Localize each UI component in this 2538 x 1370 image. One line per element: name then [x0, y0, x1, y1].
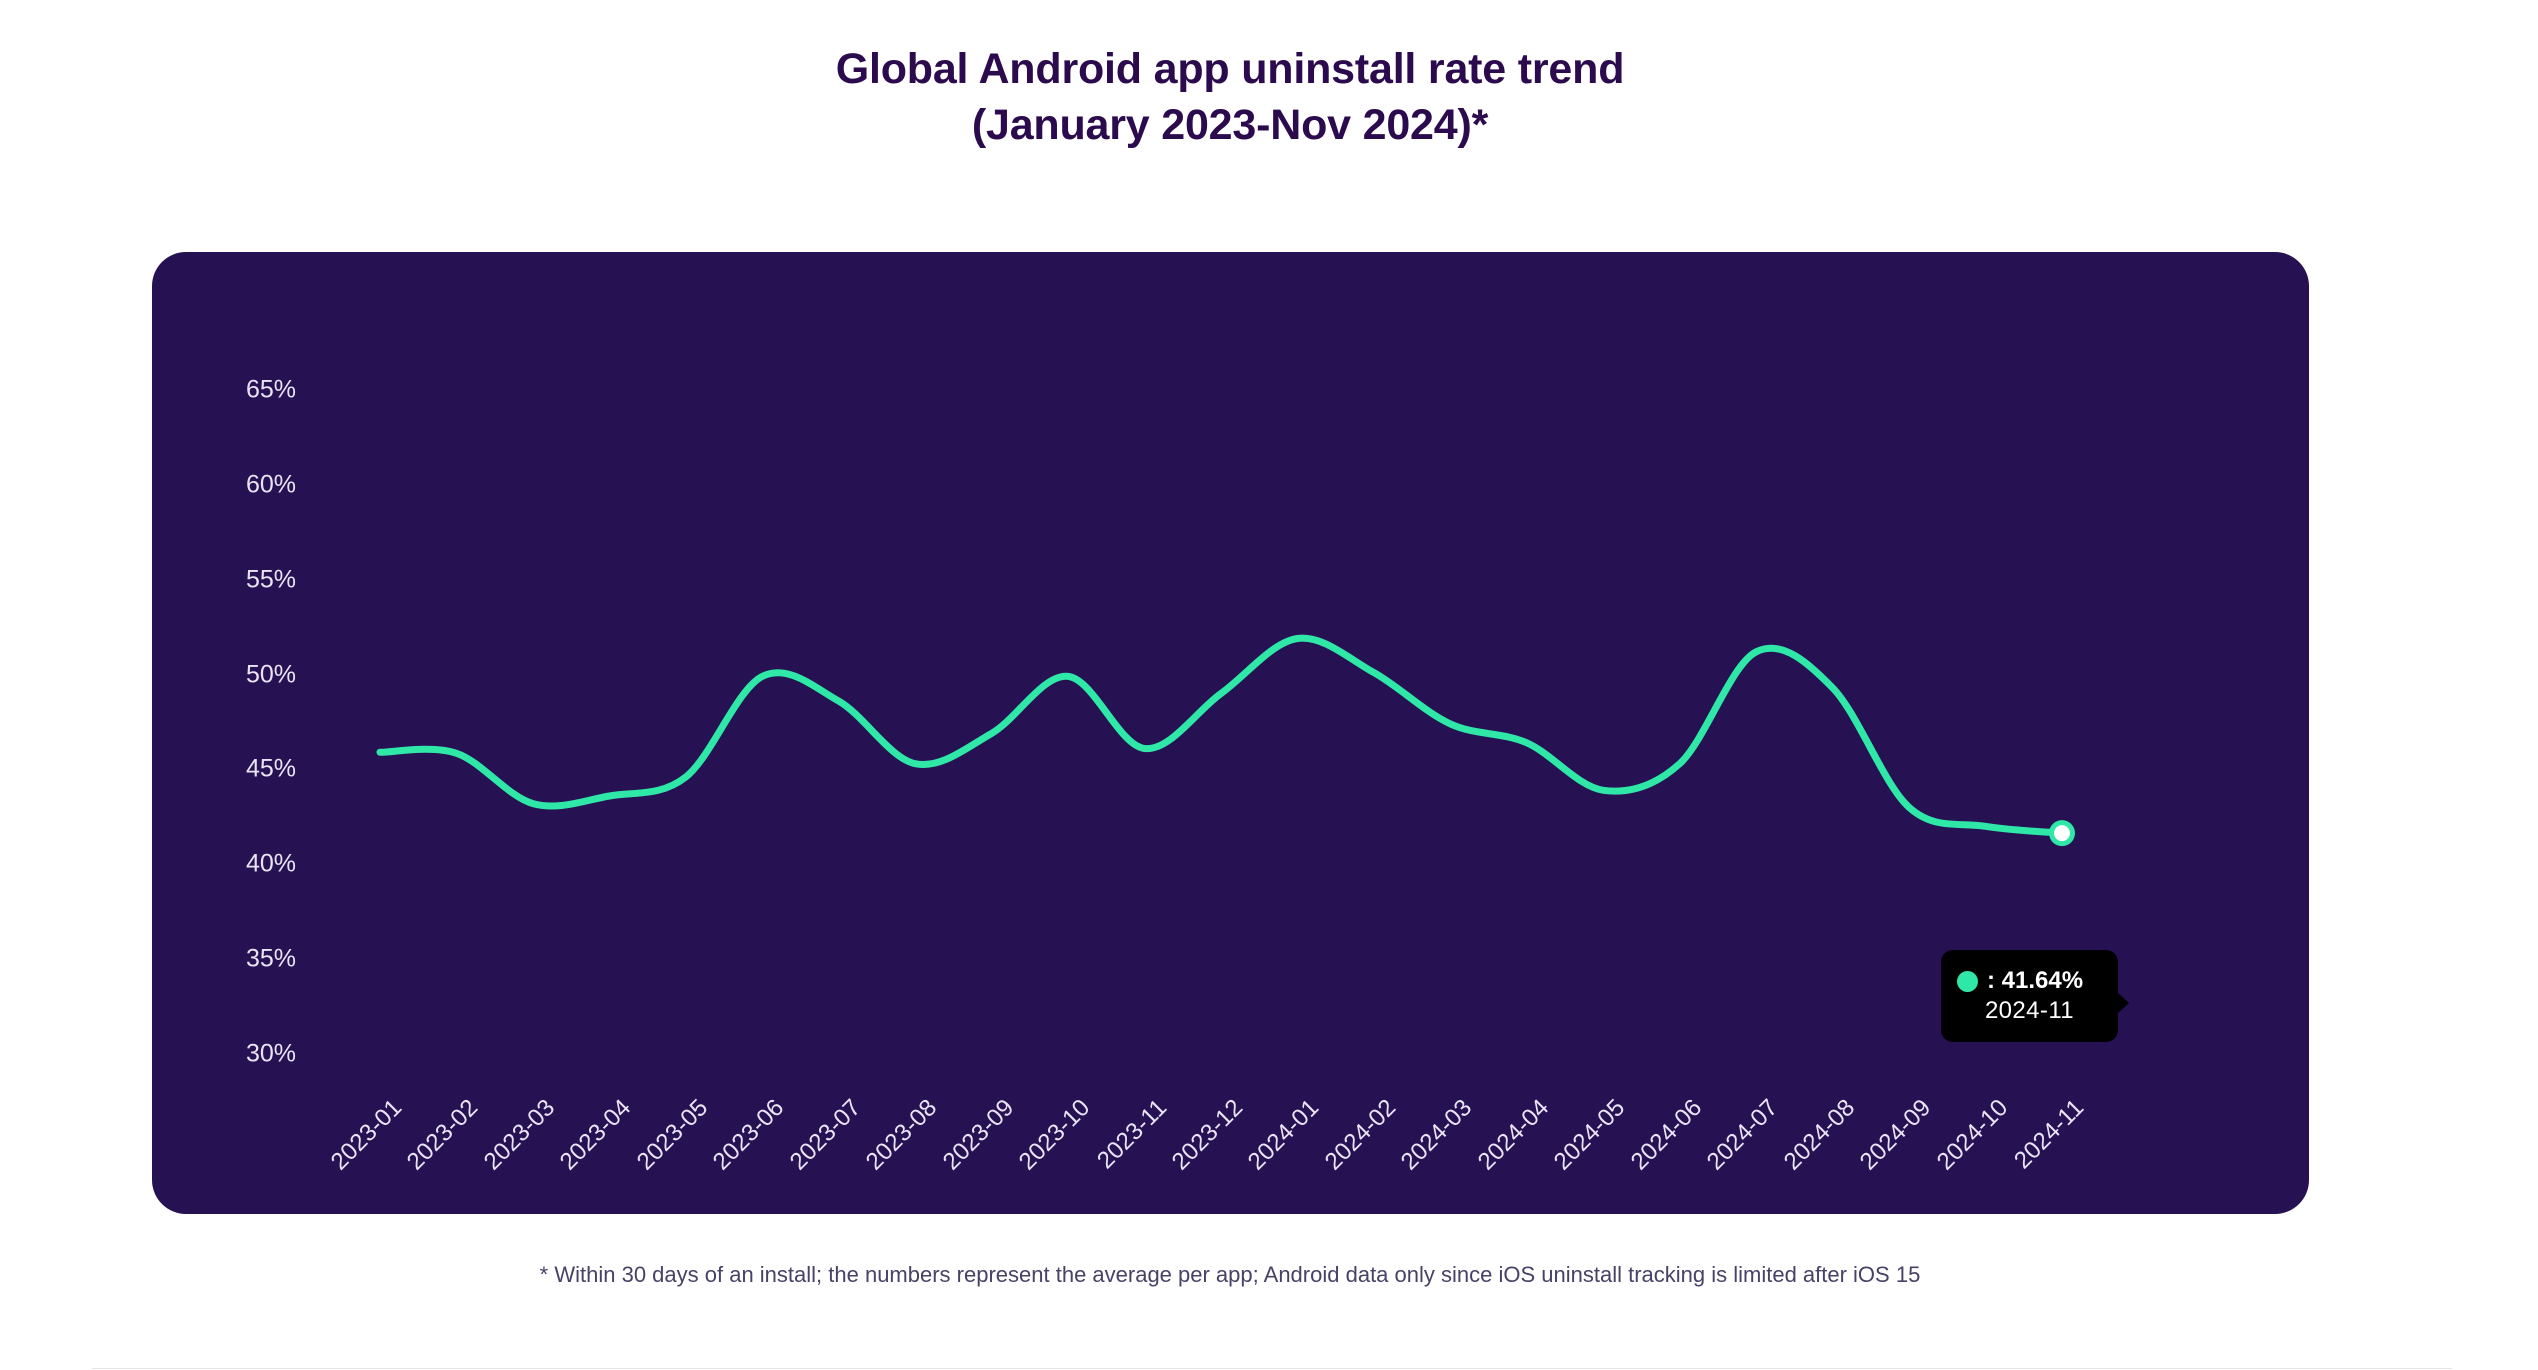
tooltip-value: : 41.64% — [1987, 967, 2083, 995]
page-title: Global Android app uninstall rate trend … — [0, 42, 2460, 154]
plot-area: 30%35%40%45%50%55%60%65% 2023-012023-022… — [152, 252, 2309, 1214]
tooltip-value-row: : 41.64% — [1957, 967, 2102, 995]
chart-page: Global Android app uninstall rate trend … — [0, 0, 2538, 1370]
chart-card: 30%35%40%45%50%55%60%65% 2023-012023-022… — [152, 252, 2309, 1214]
endpoint-marker — [2049, 820, 2075, 846]
series-line — [380, 638, 2062, 833]
footnote: * Within 30 days of an install; the numb… — [0, 1262, 2460, 1288]
tooltip-pointer-icon — [2117, 992, 2129, 1014]
tooltip: : 41.64% 2024-11 — [1941, 950, 2118, 1042]
title-line-1: Global Android app uninstall rate trend — [0, 42, 2460, 98]
bottom-divider — [92, 1368, 2452, 1369]
tooltip-date: 2024-11 — [1957, 997, 2102, 1025]
title-line-2: (January 2023-Nov 2024)* — [0, 98, 2460, 154]
line-series-layer — [152, 252, 2309, 1214]
series-dot-icon — [1957, 971, 1978, 992]
